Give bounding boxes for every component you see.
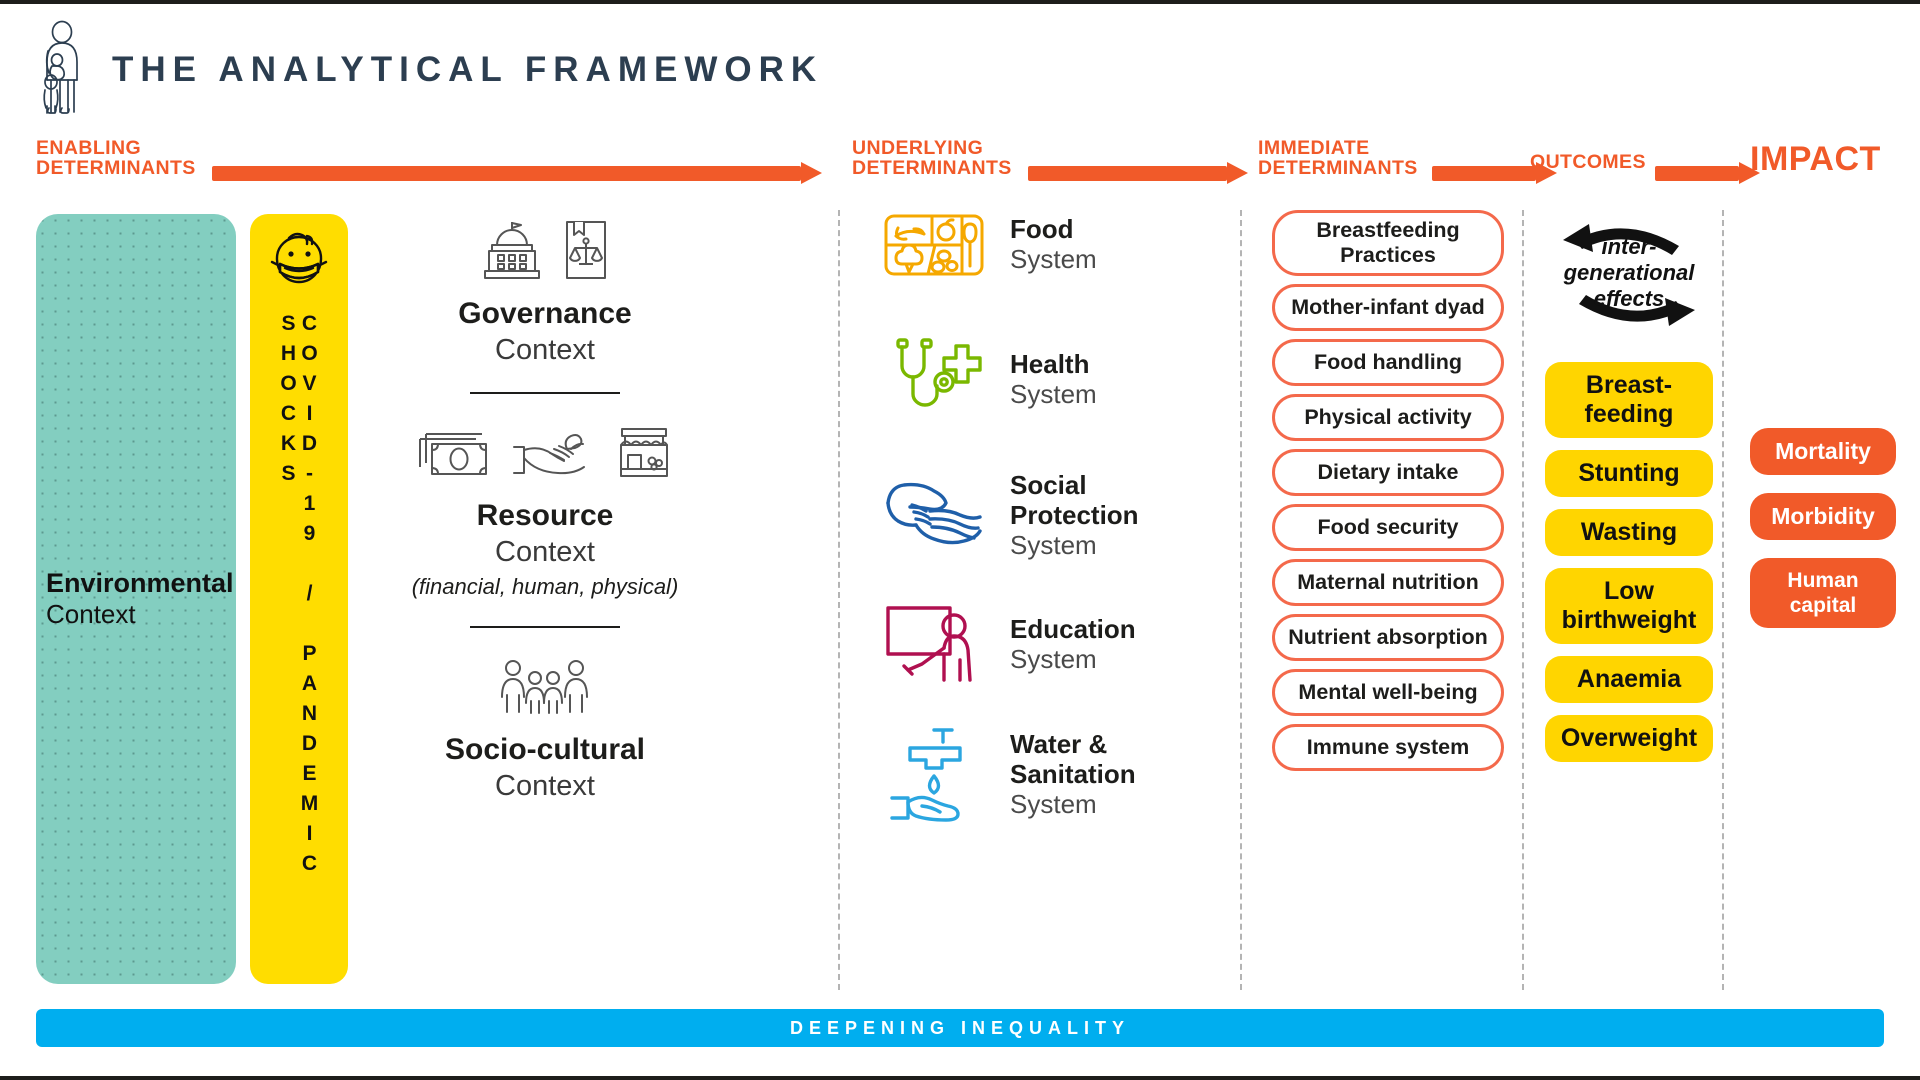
resource-note: (financial, human, physical): [400, 572, 690, 602]
impact-pill[interactable]: Mortality: [1750, 428, 1896, 475]
hand-with-seedling-icon: [510, 427, 596, 488]
divider-underlying: [838, 210, 840, 990]
environmental-context-panel: Environmental Context: [36, 214, 236, 984]
system-kind-health: System: [1010, 379, 1097, 409]
arrow-underlying-to-immediate: [1028, 162, 1248, 184]
arrow-outcomes-to-impact: [1655, 162, 1760, 184]
system-row-social-protection: Social Protection System: [880, 470, 1180, 560]
determinant-pill[interactable]: Physical activity: [1272, 394, 1504, 441]
header: THE ANALYTICAL FRAMEWORK: [36, 20, 823, 120]
determinant-pill[interactable]: Food handling: [1272, 339, 1504, 386]
socio-cultural-context: Socio-cultural Context: [400, 652, 690, 804]
impact-pill[interactable]: Human capital: [1750, 558, 1896, 628]
systems-column: Food System: [880, 210, 1180, 822]
system-row-water-sanitation: Water & Sanitation System: [880, 726, 1180, 822]
resource-subtitle: Context: [400, 534, 690, 570]
divider-impact: [1722, 210, 1724, 990]
arrow-enabling-to-underlying: [212, 162, 822, 184]
teacher-board-icon: [880, 604, 988, 684]
page-title: THE ANALYTICAL FRAMEWORK: [112, 50, 823, 90]
deepening-inequality-label: DEEPENING INEQUALITY: [790, 1018, 1130, 1039]
system-kind-water-sanitation: System: [1010, 789, 1097, 819]
system-name-social-protection: Social Protection: [1010, 470, 1139, 530]
system-row-food: Food System: [880, 206, 1180, 282]
scales-of-justice-document-icon: [561, 219, 611, 286]
system-kind-social-protection: System: [1010, 530, 1097, 560]
environmental-subtitle: Context: [46, 599, 236, 630]
mother-and-child-icon: [36, 20, 90, 120]
tap-and-hand-icon: [880, 726, 988, 822]
outcomes-column: inter- generational effects Breast- feed…: [1545, 210, 1713, 774]
phase-label-immediate: IMMEDIATEDETERMINANTS: [1258, 138, 1418, 178]
determinant-pill[interactable]: Maternal nutrition: [1272, 559, 1504, 606]
market-stall-icon: [612, 425, 676, 488]
impact-pill[interactable]: Morbidity: [1750, 493, 1896, 540]
outcome-pill[interactable]: Overweight: [1545, 715, 1713, 762]
determinant-pill[interactable]: Immune system: [1272, 724, 1504, 771]
immediate-determinants-list: Breastfeeding Practices Mother-infant dy…: [1272, 210, 1504, 779]
stethoscope-icon: [880, 336, 988, 422]
food-tray-icon: [880, 206, 988, 282]
system-name-water-sanitation: Water & Sanitation: [1010, 729, 1136, 789]
divider-rule-1: [470, 392, 620, 394]
covid-label: COVID-19 / PANDEMIC SHOCKS: [278, 312, 320, 974]
context-column: Governance Context: [400, 210, 690, 804]
governance-title: Governance: [400, 296, 690, 332]
system-name-food: Food: [1010, 214, 1074, 244]
outcome-pill[interactable]: Anaemia: [1545, 656, 1713, 703]
columns-area: Environmental Context: [0, 210, 1920, 990]
intergenerational-effects: inter- generational effects: [1545, 210, 1713, 340]
determinant-pill[interactable]: Breastfeeding Practices: [1272, 210, 1504, 276]
governance-subtitle: Context: [400, 332, 690, 368]
environmental-title: Environmental: [46, 568, 236, 599]
resource-context: Resource Context (financial, human, phys…: [400, 418, 690, 602]
system-kind-education: System: [1010, 644, 1097, 674]
determinant-pill[interactable]: Mental well-being: [1272, 669, 1504, 716]
covid-pandemic-shocks-panel: COVID-19 / PANDEMIC SHOCKS: [250, 214, 348, 984]
phase-label-impact: IMPACT: [1750, 142, 1881, 176]
phase-label-enabling: ENABLINGDETERMINANTS: [36, 138, 196, 178]
divider-immediate: [1240, 210, 1242, 990]
capitol-building-icon: [479, 219, 545, 286]
resource-title: Resource: [400, 498, 690, 534]
system-name-health: Health: [1010, 349, 1089, 379]
outcome-pill[interactable]: Low birthweight: [1545, 568, 1713, 644]
impact-column: Mortality Morbidity Human capital: [1750, 428, 1896, 646]
divider-outcomes: [1522, 210, 1524, 990]
governance-context: Governance Context: [400, 216, 690, 368]
system-row-education: Education System: [880, 604, 1180, 684]
banknotes-icon: [414, 427, 494, 488]
phase-label-underlying: UNDERLYINGDETERMINANTS: [852, 138, 1012, 178]
determinant-pill[interactable]: Mother-infant dyad: [1272, 284, 1504, 331]
system-row-health: Health System: [880, 336, 1180, 422]
socio-cultural-title: Socio-cultural: [400, 732, 690, 768]
determinant-pill[interactable]: Dietary intake: [1272, 449, 1504, 496]
phase-arrow-row: ENABLINGDETERMINANTS UNDERLYINGDETERMINA…: [0, 130, 1920, 190]
phase-label-outcomes: OUTCOMES: [1530, 152, 1646, 172]
outcome-pill[interactable]: Breast- feeding: [1545, 362, 1713, 438]
intergenerational-label: inter- generational effects: [1545, 234, 1713, 312]
determinant-pill[interactable]: Nutrient absorption: [1272, 614, 1504, 661]
baby-with-mask-icon: [267, 228, 331, 305]
family-group-icon: [491, 655, 599, 722]
helping-hands-icon: [880, 479, 988, 551]
determinant-pill[interactable]: Food security: [1272, 504, 1504, 551]
outcome-pill[interactable]: Wasting: [1545, 509, 1713, 556]
system-kind-food: System: [1010, 244, 1097, 274]
deepening-inequality-bar: DEEPENING INEQUALITY: [36, 1009, 1884, 1047]
framework-diagram: THE ANALYTICAL FRAMEWORK ENABLINGDETERMI…: [0, 0, 1920, 1080]
system-name-education: Education: [1010, 614, 1136, 644]
socio-cultural-subtitle: Context: [400, 768, 690, 804]
outcome-pill[interactable]: Stunting: [1545, 450, 1713, 497]
divider-rule-2: [470, 626, 620, 628]
